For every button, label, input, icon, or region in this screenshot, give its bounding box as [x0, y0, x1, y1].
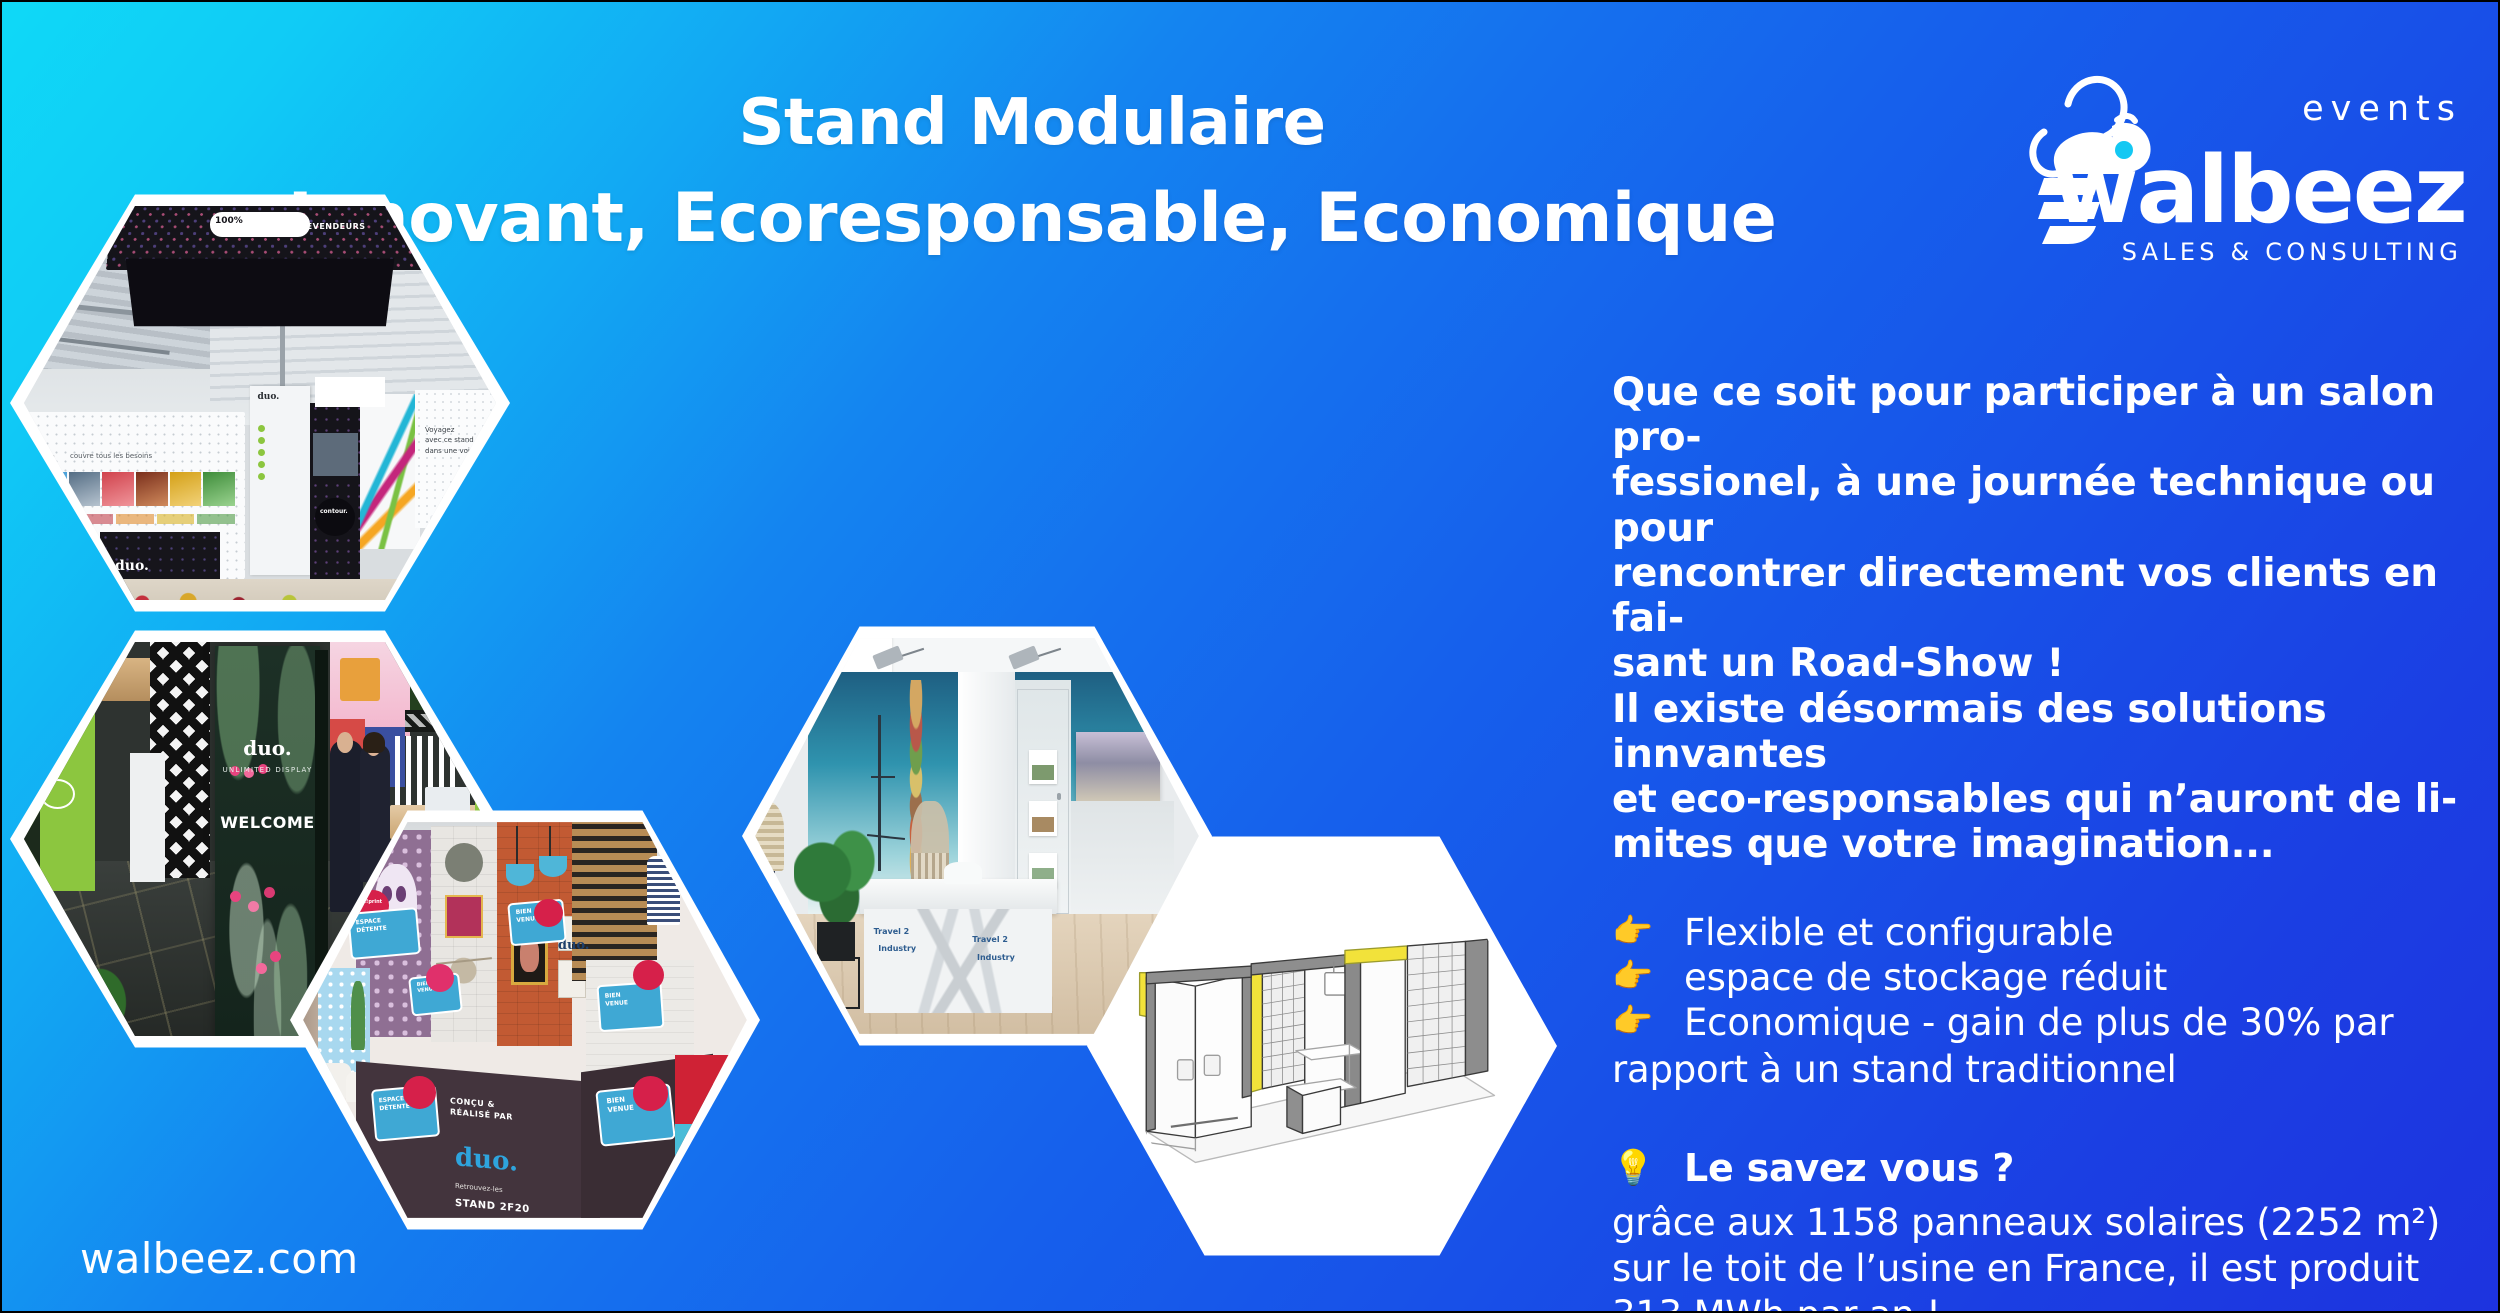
did-you-know-heading: Le savez vous ?	[1684, 1146, 2014, 1190]
benefits-list: 👉 Flexible et configurable 👉 espace de s…	[1612, 910, 2472, 1093]
logo-tagline-top: events	[2302, 89, 2462, 129]
benefit-label-1: Flexible et configurable	[1684, 910, 2472, 955]
benefit-item-3: 👉 Economique - gain de plus de 30% par	[1612, 1000, 2472, 1045]
gallery-hex-1[interactable]: 100% REVENDEURS duo. couvre tous les bes…	[10, 188, 510, 618]
did-you-know-body: grâce aux 1158 panneaux solaires (2252 m…	[1612, 1200, 2472, 1313]
benefit-item-1: 👉 Flexible et configurable	[1612, 910, 2472, 955]
content-column: Que ce soit pour participer à un salon p…	[1612, 370, 2472, 1313]
intro-paragraph: Que ce soit pour participer à un salon p…	[1612, 370, 2472, 868]
benefit-label-2: espace de stockage réduit	[1684, 955, 2472, 1000]
website-url[interactable]: walbeez.com	[80, 1234, 359, 1283]
poster-canvas: Stand Modulaire Innovant, Ecoresponsable…	[0, 0, 2500, 1313]
title-line-1: Stand Modulaire	[2, 90, 2062, 157]
walbeez-logo[interactable]: events walbeez SALES & CONSULTING	[2000, 32, 2470, 272]
benefit-item-2: 👉 espace de stockage réduit	[1612, 955, 2472, 1000]
logo-wordmark: walbeez	[2053, 136, 2466, 244]
pointing-right-icon: 👉	[1612, 1000, 1684, 1043]
gallery-hex-1-image: 100% REVENDEURS duo. couvre tous les bes…	[10, 188, 510, 618]
pointing-right-icon: 👉	[1612, 910, 1684, 953]
logo-tagline-bottom: SALES & CONSULTING	[2122, 238, 2462, 266]
benefit-wrap-line: rapport à un stand traditionnel	[1612, 1047, 2472, 1092]
lightbulb-icon: 💡	[1612, 1148, 1684, 1188]
did-you-know-heading-row: 💡 Le savez vous ?	[1612, 1146, 2472, 1190]
benefit-label-3: Economique - gain de plus de 30% par	[1684, 1000, 2472, 1045]
pointing-right-icon: 👉	[1612, 955, 1684, 998]
did-you-know-block: 💡 Le savez vous ? grâce aux 1158 panneau…	[1612, 1146, 2472, 1313]
